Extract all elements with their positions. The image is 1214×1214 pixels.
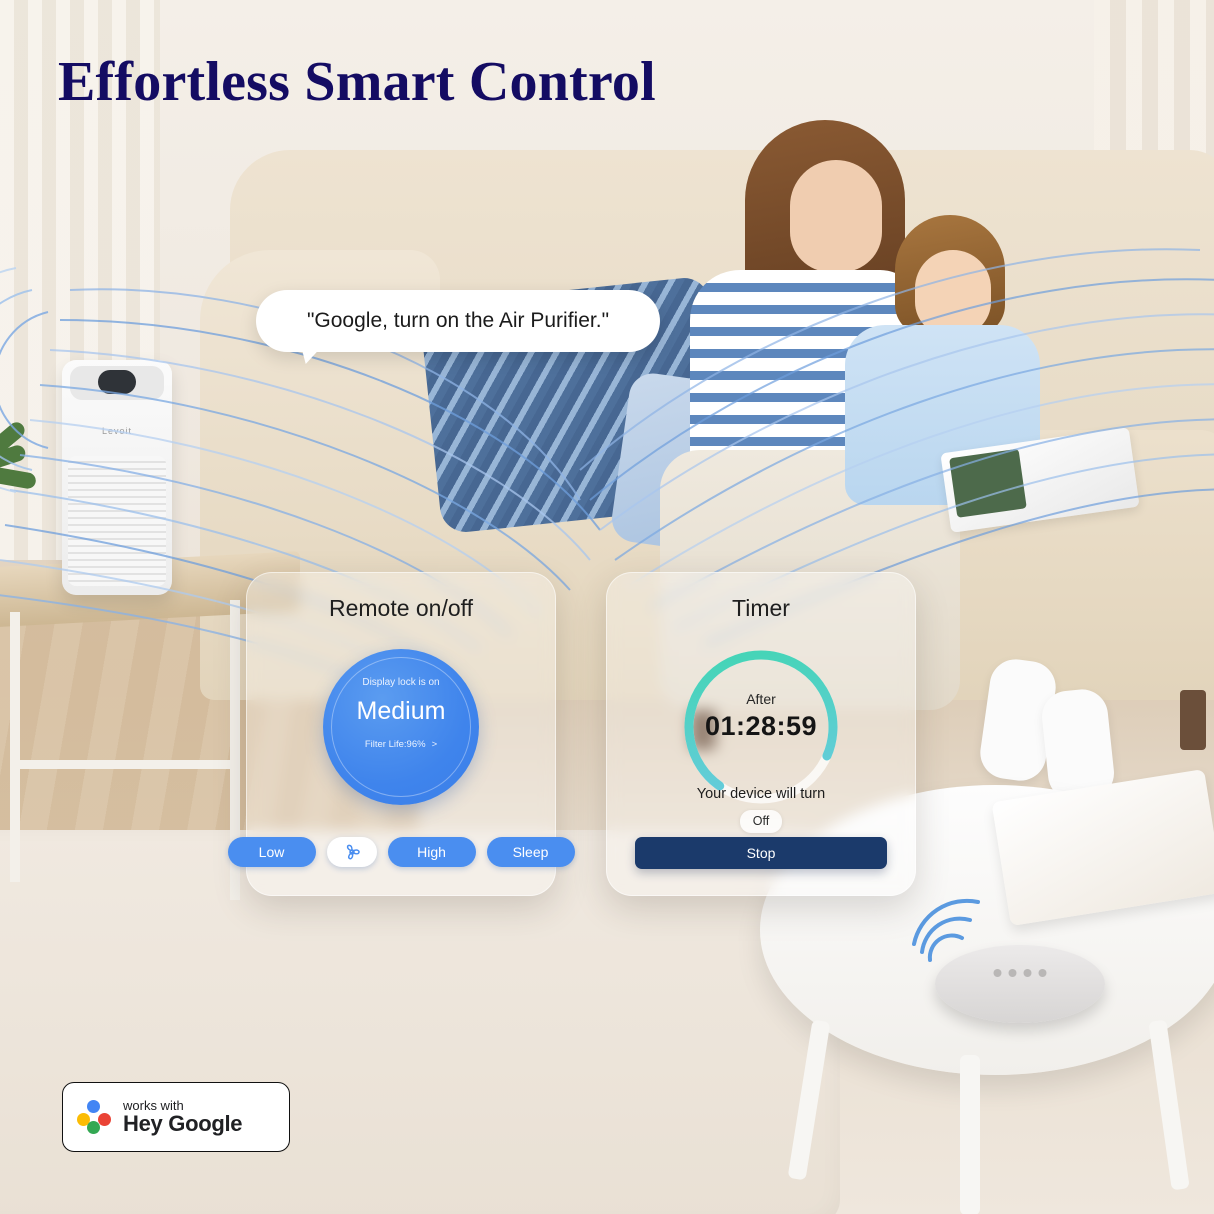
purifier-control-knob bbox=[98, 370, 136, 394]
badge-text: works with Hey Google bbox=[123, 1099, 242, 1136]
side-table-leg bbox=[10, 612, 20, 882]
timer-after-label: After bbox=[675, 691, 847, 707]
mode-pill-group[interactable]: Low High Sleep bbox=[247, 837, 555, 867]
voice-command-text: "Google, turn on the Air Purifier." bbox=[307, 309, 609, 333]
display-lock-status: Display lock is on bbox=[323, 677, 479, 688]
badge-works-with: works with bbox=[123, 1099, 242, 1113]
woman-face bbox=[790, 160, 882, 272]
works-with-hey-google-badge: works with Hey Google bbox=[62, 1082, 290, 1152]
speaker-led-dots bbox=[994, 969, 1047, 977]
table-leg bbox=[960, 1055, 980, 1214]
timer-status: Your device will turn Off bbox=[607, 785, 915, 833]
mode-pill-sleep[interactable]: Sleep bbox=[487, 837, 575, 867]
remote-onoff-card[interactable]: Remote on/off Display lock is on Medium … bbox=[246, 572, 556, 896]
child-face bbox=[915, 250, 991, 336]
stop-button[interactable]: Stop bbox=[635, 837, 887, 869]
page-title: Effortless Smart Control bbox=[58, 50, 656, 114]
current-mode-label: Medium bbox=[323, 697, 479, 726]
mode-pill-low[interactable]: Low bbox=[228, 837, 316, 867]
timer-card-title: Timer bbox=[607, 573, 915, 622]
voice-command-bubble: "Google, turn on the Air Purifier." bbox=[256, 290, 660, 352]
mode-pill-high[interactable]: High bbox=[388, 837, 476, 867]
purifier-brand-label: Levoit bbox=[62, 426, 172, 436]
side-table-brace bbox=[10, 760, 240, 769]
fan-speed-dial[interactable]: Display lock is on Medium Filter Life:96… bbox=[323, 649, 479, 805]
book-illustration bbox=[949, 449, 1027, 518]
filter-life-label: Filter Life:96% bbox=[365, 739, 426, 750]
plant bbox=[0, 430, 70, 500]
fan-icon[interactable] bbox=[327, 837, 377, 867]
purifier-air-grill bbox=[68, 456, 166, 586]
filter-life-row[interactable]: Filter Life:96%> bbox=[323, 739, 479, 750]
timer-off-chip[interactable]: Off bbox=[740, 810, 782, 833]
google-assistant-icon bbox=[77, 1100, 111, 1134]
sofa-leg bbox=[1180, 690, 1206, 750]
chevron-right-icon: > bbox=[432, 739, 438, 750]
timer-status-text: Your device will turn bbox=[697, 786, 825, 802]
badge-assistant-name: Hey Google bbox=[123, 1112, 242, 1135]
screenshot-stage: Levoit bbox=[0, 0, 1214, 1214]
timer-countdown-value: 01:28:59 bbox=[675, 711, 847, 742]
timer-card[interactable]: Timer After 01:28:59 Your device will tu… bbox=[606, 572, 916, 896]
wifi-waves-icon bbox=[900, 890, 1020, 970]
air-purifier: Levoit bbox=[62, 360, 172, 595]
remote-card-title: Remote on/off bbox=[247, 573, 555, 622]
